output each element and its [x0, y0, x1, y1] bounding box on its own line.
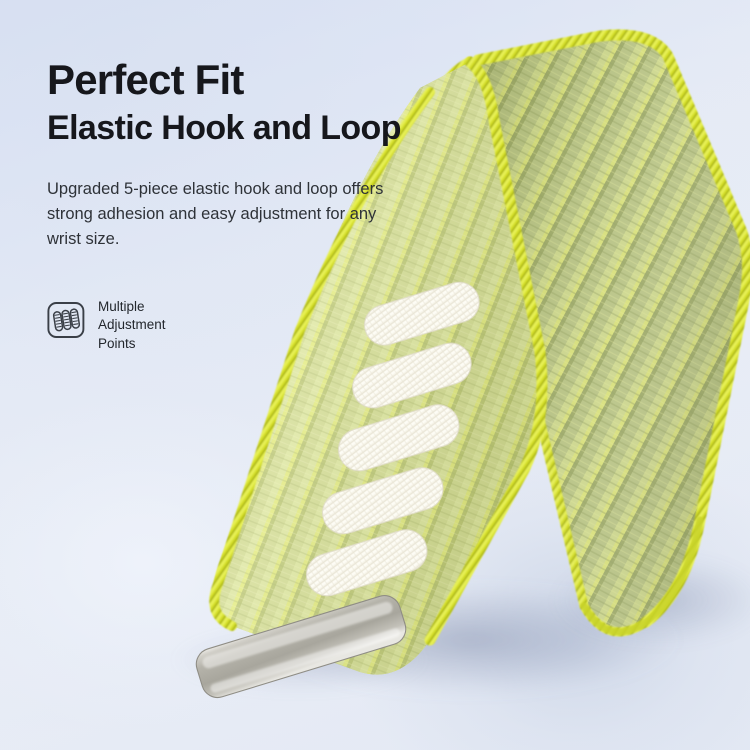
headline-secondary: Elastic Hook and Loop	[47, 109, 447, 147]
multiple-adjustment-points-icon	[47, 300, 85, 340]
body-description: Upgraded 5-piece elastic hook and loop o…	[47, 177, 407, 252]
headline-primary: Perfect Fit	[47, 58, 447, 103]
feature-badge: Multiple Adjustment Points	[47, 297, 166, 353]
copy-block: Perfect Fit Elastic Hook and Loop Upgrad…	[47, 58, 447, 252]
feature-badge-label: Multiple Adjustment Points	[98, 297, 166, 353]
product-marketing-image: Perfect Fit Elastic Hook and Loop Upgrad…	[0, 0, 750, 750]
